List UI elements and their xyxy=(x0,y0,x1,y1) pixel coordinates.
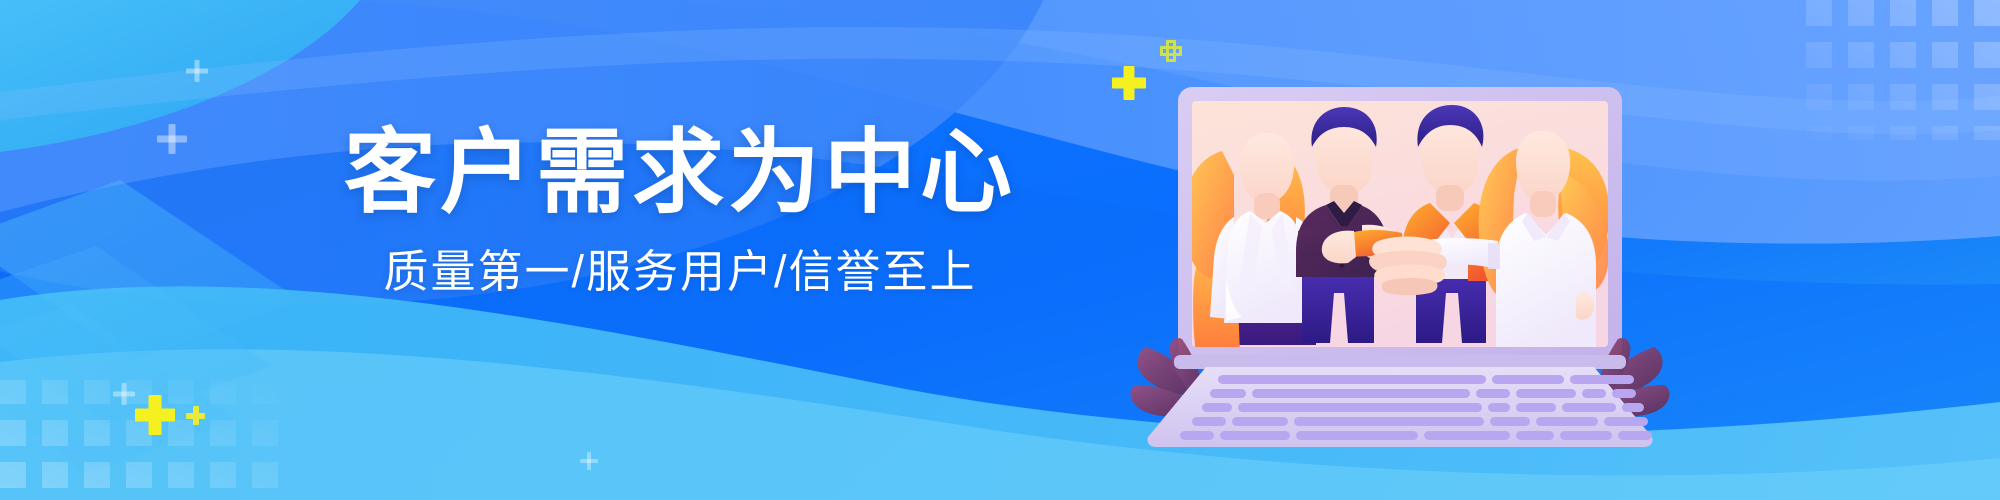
cross-yellow-large-top-icon xyxy=(1112,66,1146,100)
cross-yellow-small-top-icon xyxy=(1160,40,1182,62)
cross-white-upper-icon xyxy=(186,60,208,82)
grid-top-right xyxy=(1790,0,2000,140)
promo-banner: 客户需求为中心 质量第一/服务用户/信誉至上 xyxy=(0,0,2000,500)
cross-yellow-small-bottom-icon xyxy=(186,406,205,425)
laptop-hinge xyxy=(1174,355,1626,369)
cross-white-lower-icon xyxy=(157,124,187,154)
page-title: 客户需求为中心 xyxy=(300,125,1060,223)
page-subtitle: 质量第一/服务用户/信誉至上 xyxy=(300,245,1060,299)
headline-block: 客户需求为中心 质量第一/服务用户/信誉至上 xyxy=(300,125,1060,299)
laptop-team-illustration xyxy=(1130,55,1670,455)
cross-white-far-bottom-icon xyxy=(580,452,598,470)
cross-white-bottom-icon xyxy=(113,383,135,405)
cross-yellow-large-bottom-icon xyxy=(135,395,175,435)
